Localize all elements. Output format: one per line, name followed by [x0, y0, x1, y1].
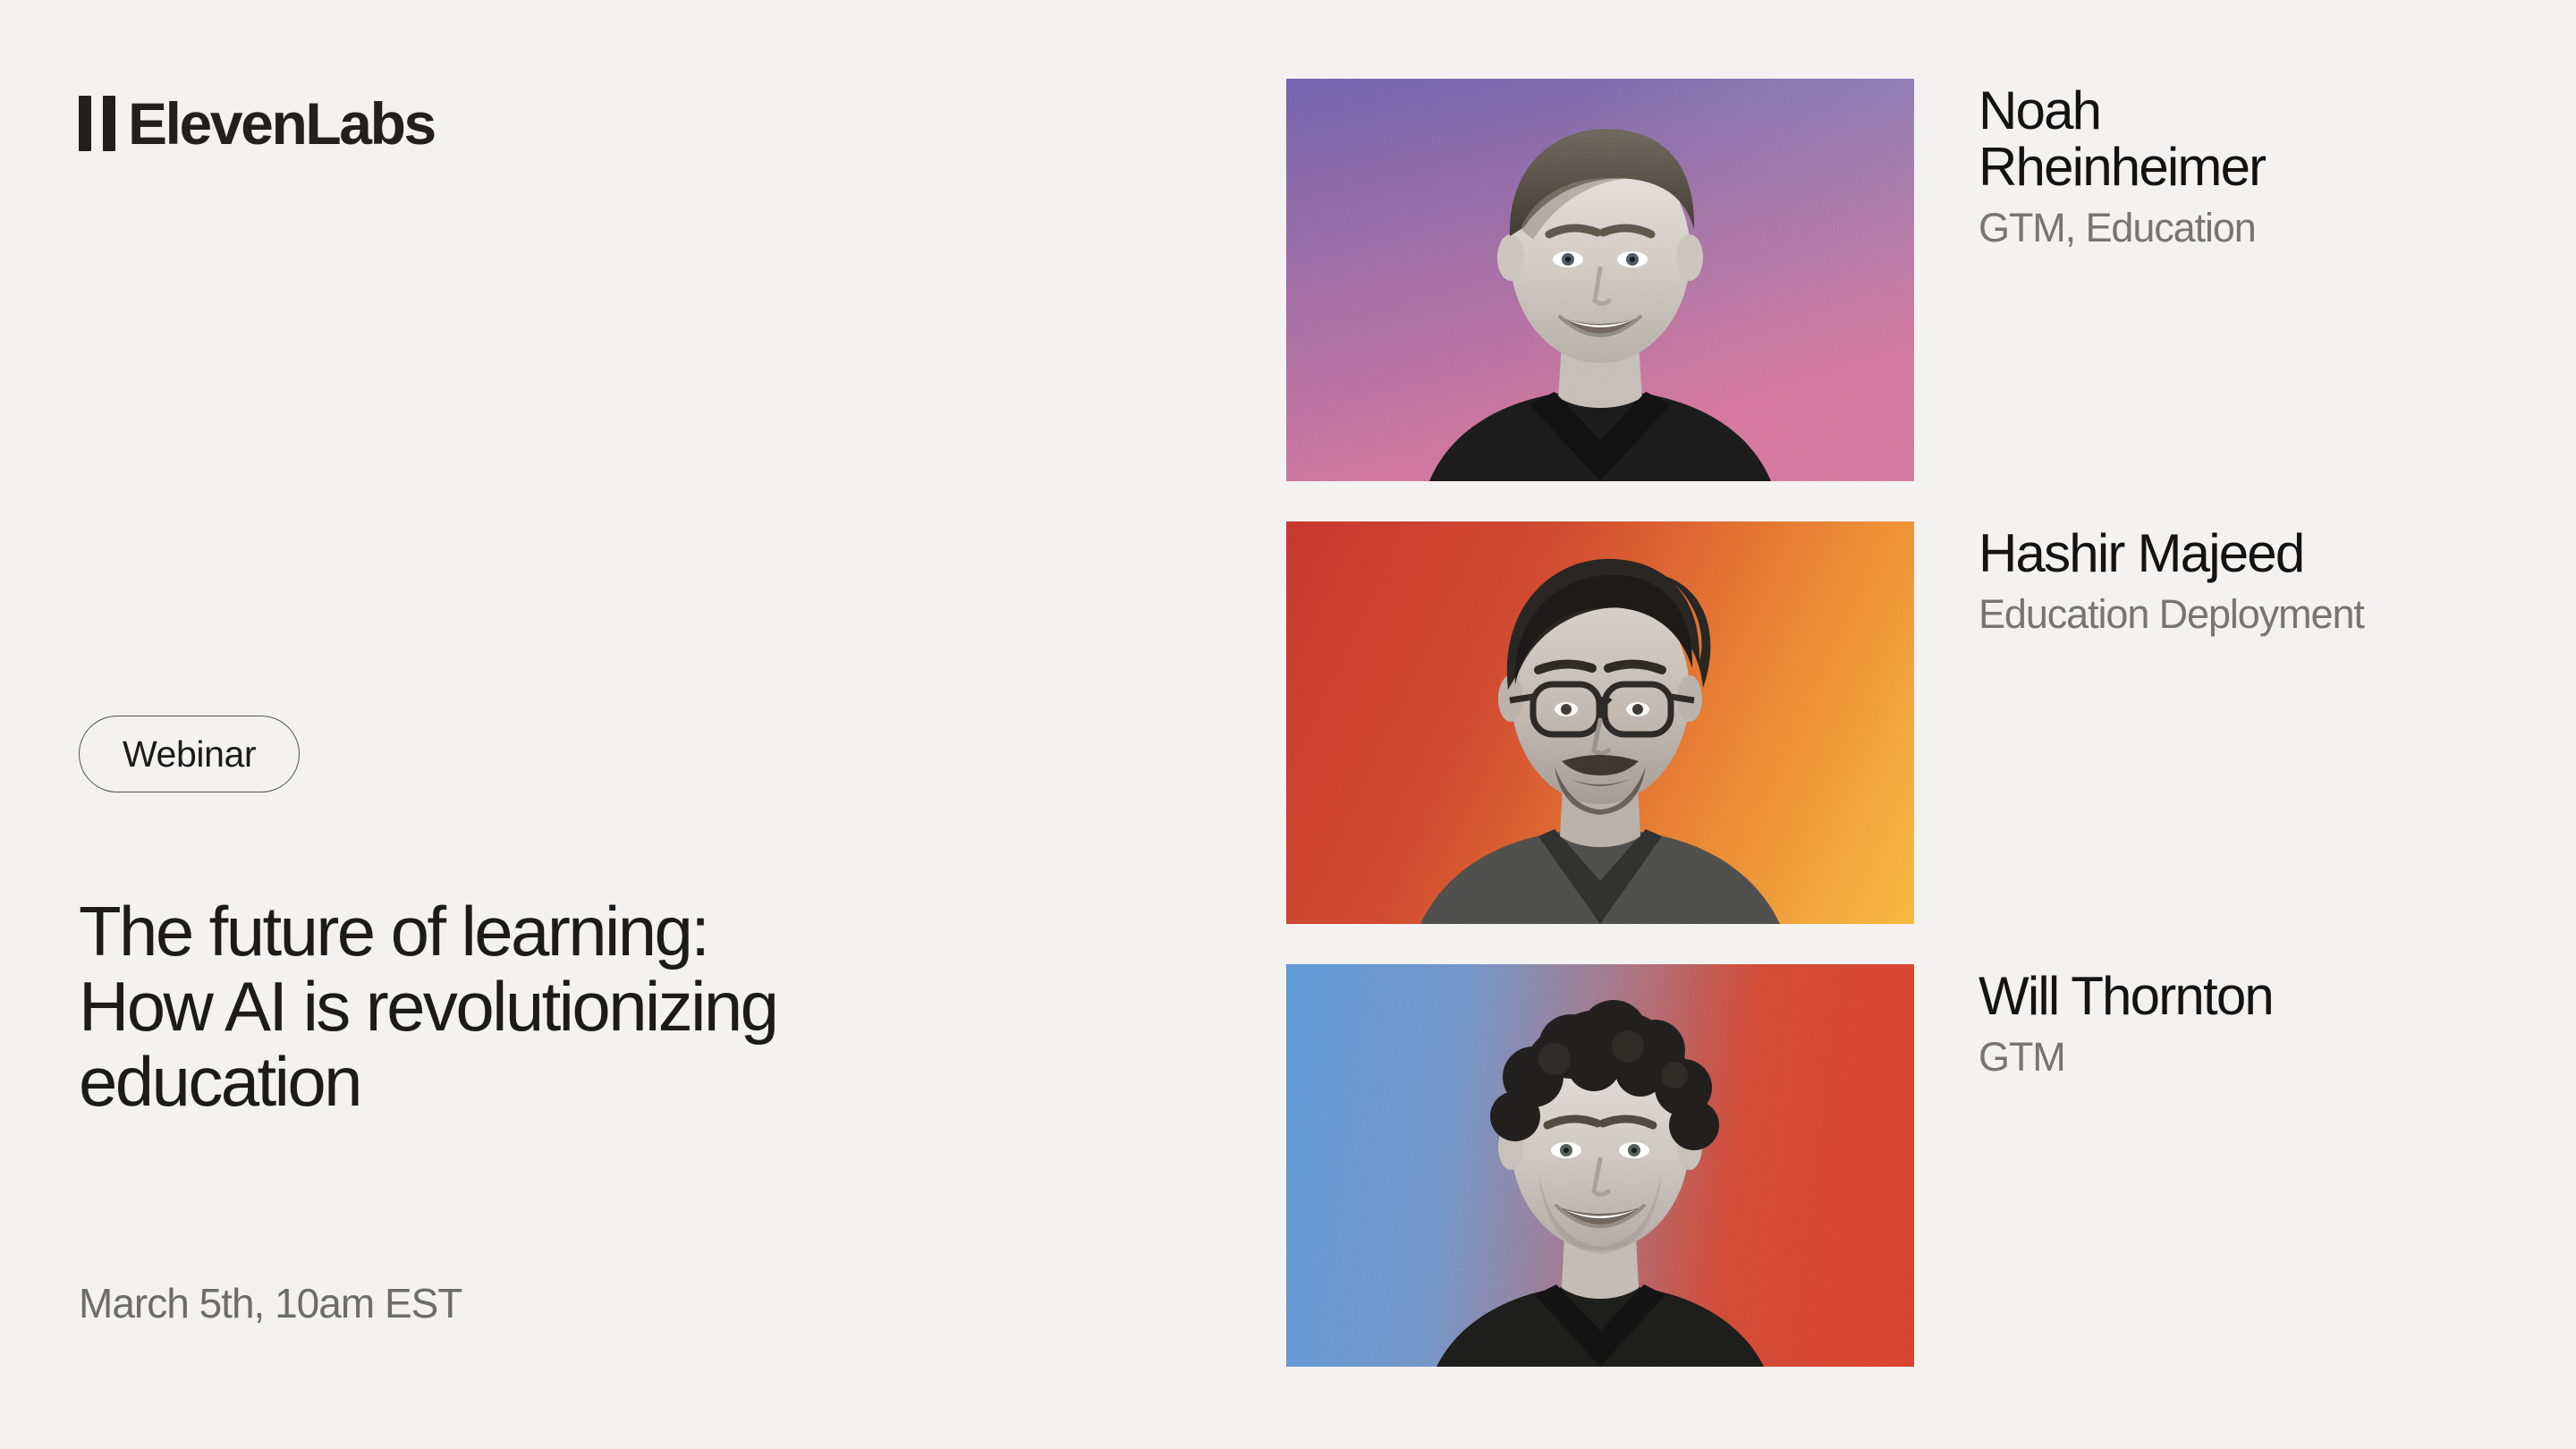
- film-grain-overlay: [1286, 521, 1914, 924]
- speaker-role: GTM: [1979, 1036, 2503, 1078]
- webinar-badge-label: Webinar: [123, 736, 256, 773]
- event-datetime: March 5th, 10am EST: [79, 1283, 462, 1324]
- logo-bars-icon: [79, 96, 115, 151]
- speaker-details: Noah Rheinheimer GTM, Education: [1914, 79, 2503, 249]
- avatar: [1286, 521, 1914, 924]
- list-item: Hashir Majeed Education Deployment: [1286, 521, 2503, 924]
- speaker-name: Hashir Majeed: [1979, 525, 2503, 581]
- speaker-details: Will Thornton GTM: [1914, 964, 2503, 1078]
- webinar-badge: Webinar: [79, 716, 300, 792]
- page-title: The future of learning: How AI is revolu…: [79, 894, 1152, 1120]
- film-grain-overlay: [1286, 964, 1914, 1367]
- elevenlabs-logo[interactable]: ElevenLabs: [79, 88, 435, 159]
- film-grain-overlay: [1286, 79, 1914, 481]
- avatar: [1286, 79, 1914, 481]
- speaker-role: Education Deployment: [1979, 593, 2503, 635]
- webinar-promo-page: ElevenLabs Webinar The future of learnin…: [0, 0, 2576, 1449]
- list-item: Will Thornton GTM: [1286, 964, 2503, 1367]
- logo-wordmark: ElevenLabs: [128, 96, 435, 151]
- speaker-name: Will Thornton: [1979, 968, 2503, 1024]
- speaker-list: Noah Rheinheimer GTM, Education: [1286, 79, 2503, 1367]
- speaker-role: GTM, Education: [1979, 207, 2503, 249]
- speaker-details: Hashir Majeed Education Deployment: [1914, 521, 2503, 635]
- list-item: Noah Rheinheimer GTM, Education: [1286, 79, 2503, 481]
- left-content-column: ElevenLabs Webinar The future of learnin…: [79, 0, 1224, 1449]
- avatar: [1286, 964, 1914, 1367]
- speaker-name: Noah Rheinheimer: [1979, 82, 2503, 195]
